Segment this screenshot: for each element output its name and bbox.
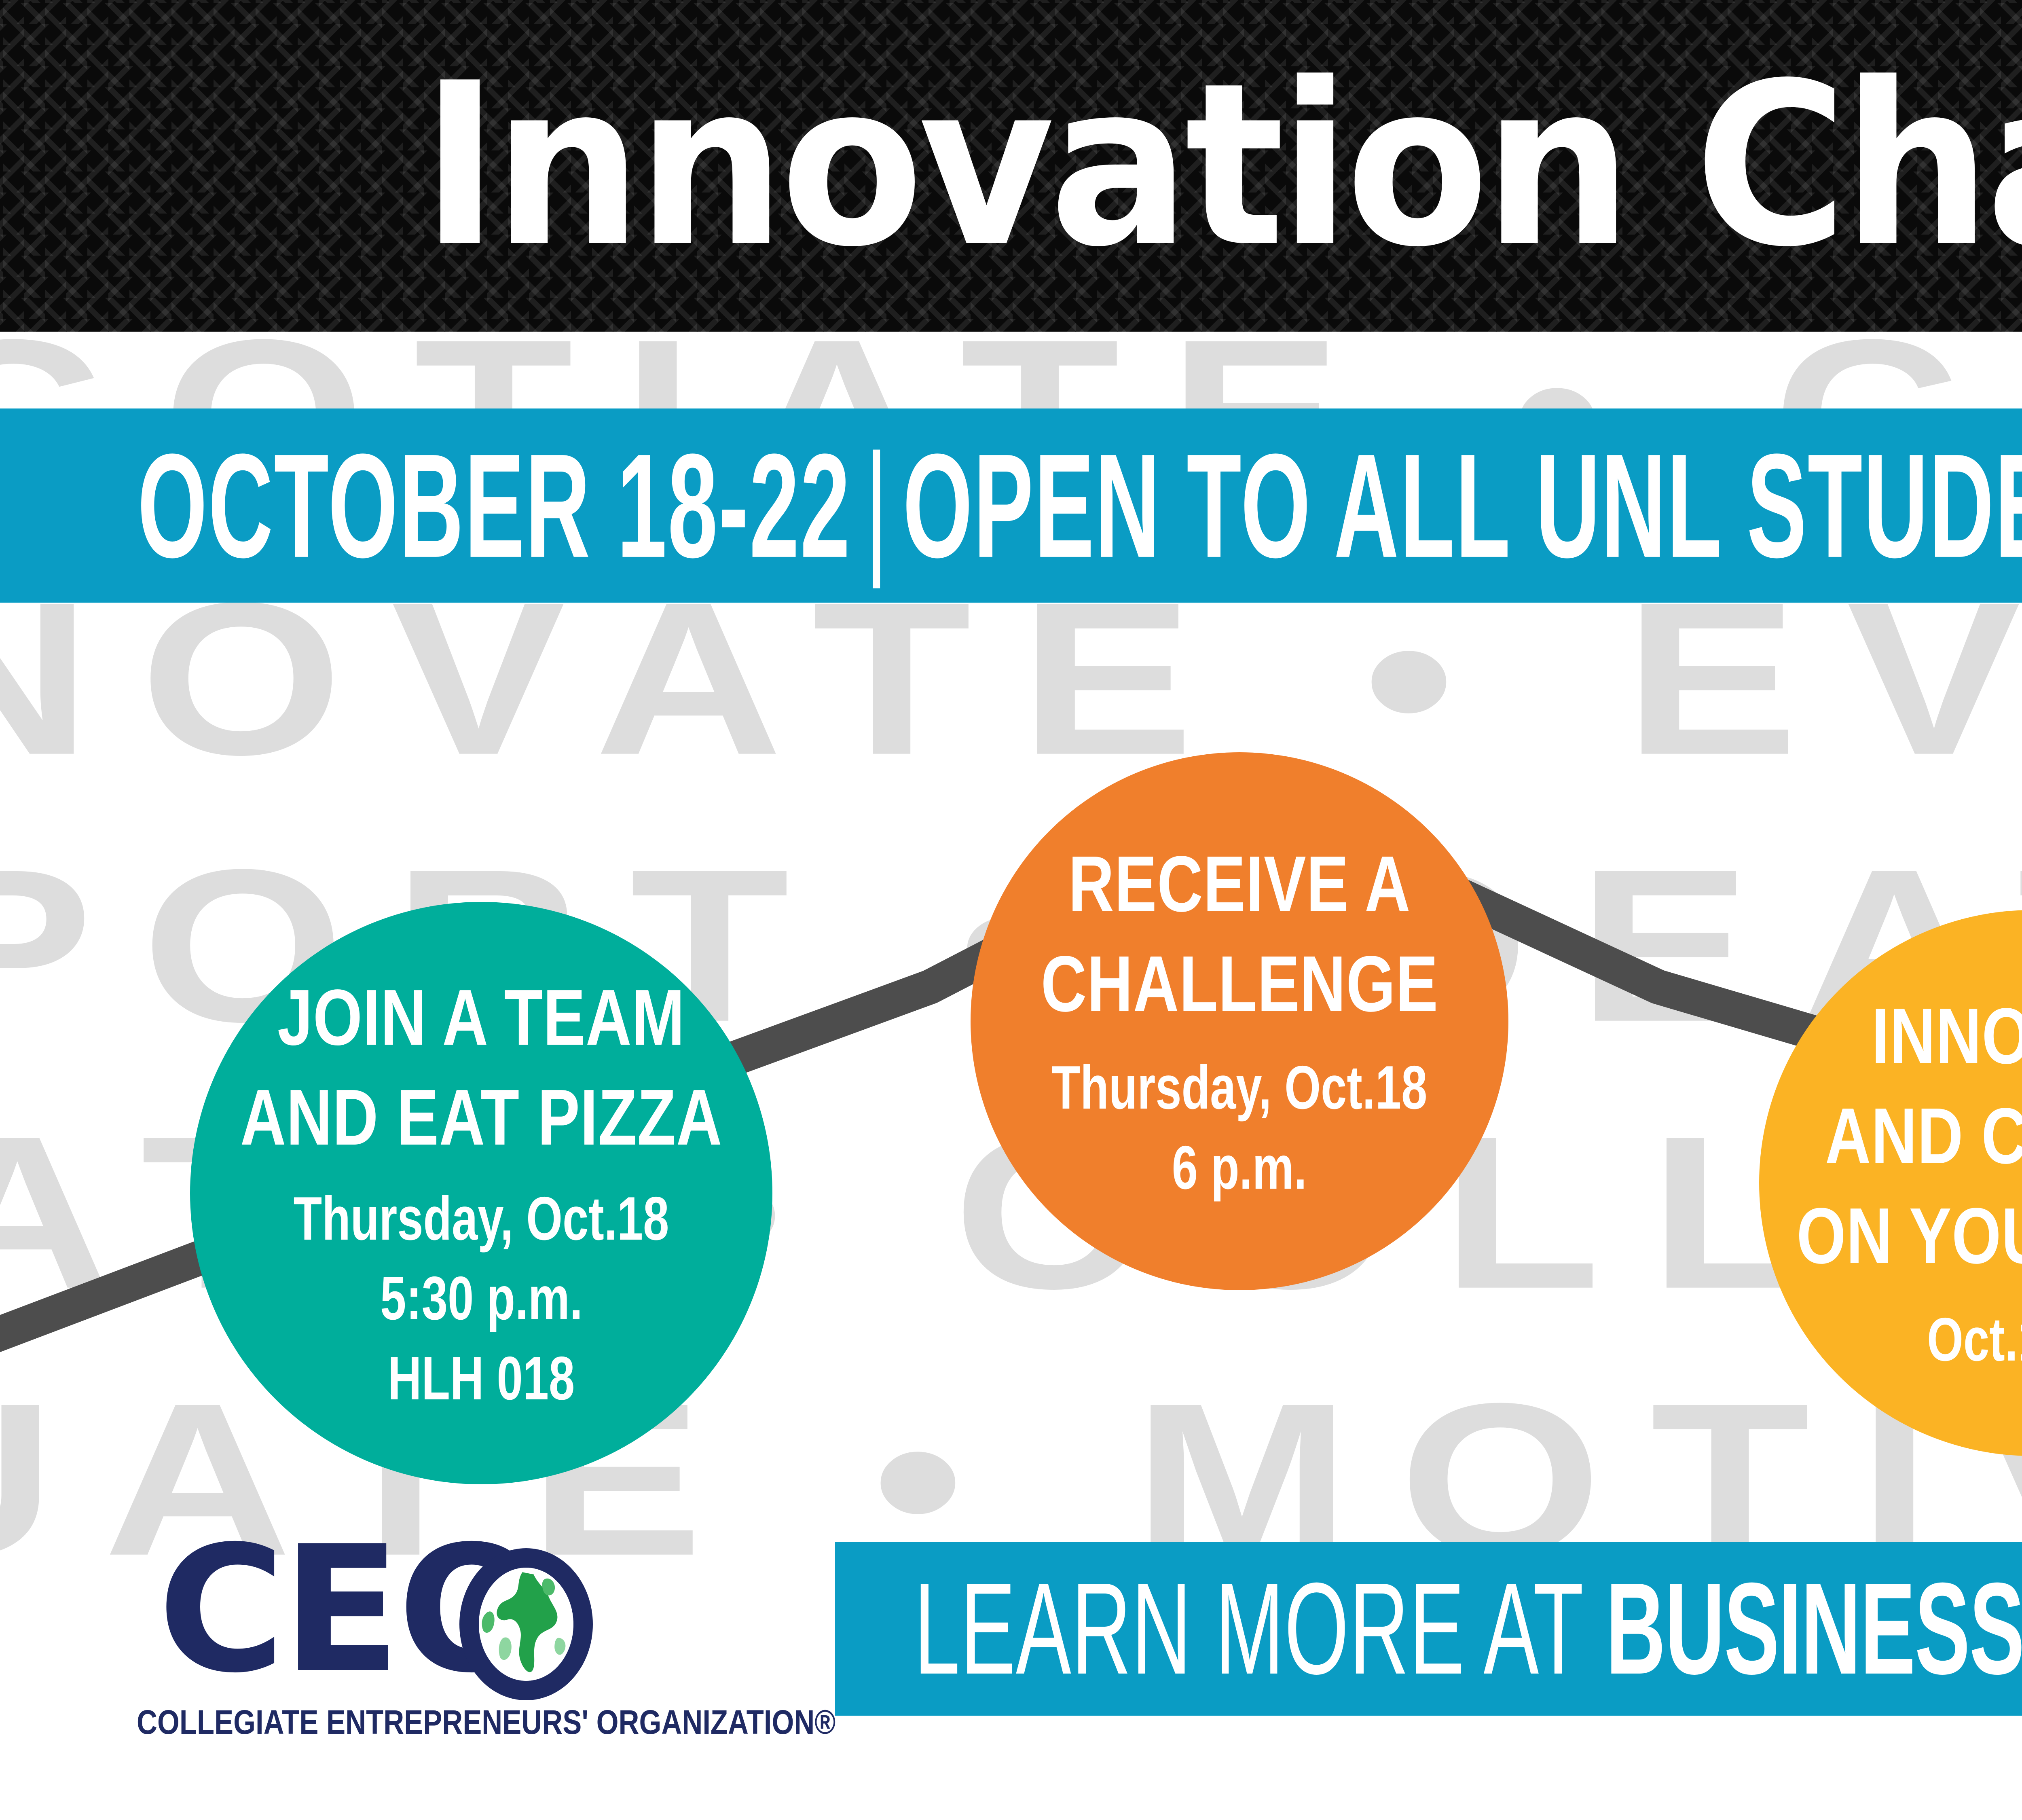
watermark-row: NOVATE • EVALUATE • I [0, 570, 2022, 788]
dates-banner: OCTOBER 18-22|OPEN TO ALL UNL STUDENTS [0, 408, 2022, 603]
step-headline: CHALLENGE [1041, 934, 1438, 1034]
dates-banner-text: OCTOBER 18-22|OPEN TO ALL UNL STUDENTS [137, 420, 2022, 591]
ceo-logo: CEO COLLEGIATE ENTREPRENEURS' ORGANIZATI… [133, 1537, 700, 1763]
step-headline: INNOVATE [1872, 986, 2022, 1086]
step-detail: Thursday, Oct.18 [1052, 1048, 1428, 1128]
banner-dates: OCTOBER 18-22 [137, 423, 851, 588]
step-headline: AND CREATE [1825, 1086, 2022, 1186]
ceo-wordmark: CEO [133, 1537, 651, 1699]
step-circle-join-a-team[interactable]: JOIN A TEAM AND EAT PIZZA Thursday, Oct.… [190, 902, 772, 1484]
step-detail: HLH 018 [388, 1339, 575, 1419]
learn-more-text: LEARN MORE AT BUSINESS.UNL.EDU/ENTREPREN… [914, 1554, 2022, 1704]
step-headline: AND EAT PIZZA [240, 1068, 722, 1168]
page-title: Innovation Challenge [113, 0, 2022, 332]
globe-icon [459, 1548, 593, 1700]
step-headline: ON YOUR OWN [1797, 1186, 2022, 1286]
header-band: Innovation Challenge [0, 0, 2022, 332]
step-detail: 5:30 p.m. [380, 1259, 583, 1339]
step-detail: Thursday, Oct.18 [294, 1179, 669, 1259]
step-detail: Oct.18-22 [1927, 1300, 2022, 1380]
step-detail: 6 p.m. [1172, 1128, 1307, 1208]
step-headline: JOIN A TEAM [277, 968, 685, 1068]
learn-more-url: BUSINESS.UNL.EDU/ENTREPRENEURSHIP [1606, 1556, 2022, 1701]
step-circle-receive-a-challenge[interactable]: RECEIVE A CHALLENGE Thursday, Oct.18 6 p… [971, 752, 1508, 1290]
banner-separator: | [851, 420, 903, 591]
ceo-tagline: COLLEGIATE ENTREPRENEURS' ORGANIZATION® [137, 1703, 835, 1742]
learn-more-banner[interactable]: LEARN MORE AT BUSINESS.UNL.EDU/ENTREPREN… [835, 1542, 2022, 1716]
learn-more-lead: LEARN MORE AT [914, 1556, 1606, 1701]
banner-audience: OPEN TO ALL UNL STUDENTS [903, 423, 2022, 588]
step-headline: RECEIVE A [1068, 834, 1411, 934]
poster-canvas: Innovation Challenge GOTIATE • CREATE • … [0, 0, 2022, 1820]
globe-inner [479, 1568, 573, 1681]
